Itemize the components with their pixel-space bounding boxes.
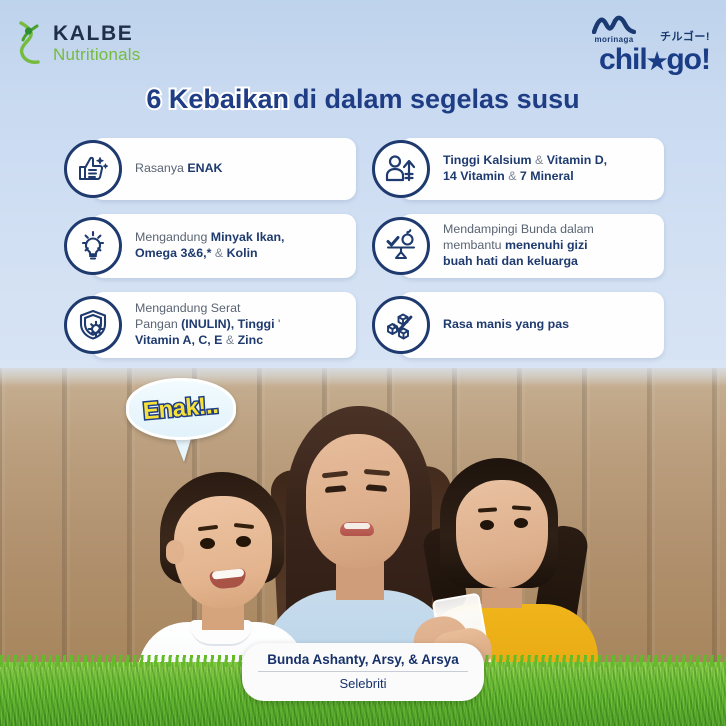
background-fade [0,360,726,386]
benefit-text-2: Tinggi Kalsium & Vitamin D,14 Vitamin & … [443,153,617,185]
speech-bubble-text: Enak!.. [142,392,219,426]
boy-eye-right [236,536,251,547]
chilgo-wordmark: chil★go! [592,45,710,75]
morinaga-logo: morinaga [592,14,636,44]
benefit-card-4[interactable]: Mendampingi Bunda dalammembantu menenuhi… [372,214,664,278]
mother-face [306,434,410,568]
benefit-text-1: Rasanya ENAK [135,161,232,177]
boy-eye-left [200,538,215,549]
morinaga-m-mountain-icon [592,14,636,34]
benefits-grid: Rasanya ENAK Tinggi Kalsium & Vitamin D,… [64,138,664,358]
girl-face [456,480,548,588]
caption-role: Selebriti [258,676,468,691]
thumbs-up-sparkle-icon [64,140,122,198]
page-title: 6 Kebaikandi dalam segelas susu [0,84,726,115]
benefit-card-3[interactable]: Mengandung Minyak Ikan,Omega 3&6,* & Kol… [64,214,356,278]
shield-germ-protection-icon [64,296,122,354]
person-growth-arrow-icon [372,140,430,198]
benefit-card-6[interactable]: Rasa manis yang pas [372,292,664,358]
girl-eye-right [514,518,528,528]
benefit-text-5: Mengandung SeratPangan (INULIN), Tinggi … [135,301,290,349]
kalbe-logo: KALBE Nutritionals [14,20,140,66]
chilgo-word-chil: chil [599,43,647,76]
benefit-card-2[interactable]: Tinggi Kalsium & Vitamin D,14 Vitamin & … [372,138,664,200]
benefit-text-4: Mendampingi Bunda dalammembantu menenuhi… [443,222,604,270]
boy-face [174,496,272,608]
boy-ear [166,540,184,564]
speech-bubble: Enak!.. [126,378,236,440]
benefit-card-5[interactable]: Mengandung SeratPangan (INULIN), Tinggi … [64,292,356,358]
chilgo-logo: morinaga チルゴー! chil★go! [592,14,710,75]
headline-emphasis: 6 Kebaikan [146,84,289,114]
benefit-text-3: Mengandung Minyak Ikan,Omega 3&6,* & Kol… [135,230,294,262]
chilgo-katakana: チルゴー! [660,28,710,44]
mother-teeth [344,523,370,529]
kalbe-wordmark: KALBE [53,23,140,44]
benefit-text-6: Rasa manis yang pas [443,317,579,333]
poster-canvas: KALBE Nutritionals morinaga チルゴー! chil★g… [0,0,726,726]
sugar-cubes-check-icon [372,296,430,354]
kalbe-helix-figure-icon [14,20,44,66]
balance-scale-apple-check-icon [372,217,430,275]
benefit-card-1[interactable]: Rasanya ENAK [64,138,356,200]
lightbulb-idea-icon [64,217,122,275]
headline-rest: di dalam segelas susu [293,84,580,114]
chilgo-word-go: go! [666,43,710,76]
girl-eye-left [480,520,494,530]
chilgo-star-icon: ★ [647,48,667,74]
caption-name: Bunda Ashanty, Arsy, & Arsya [258,652,468,672]
kalbe-tagline: Nutritionals [53,46,140,63]
testimonial-caption: Bunda Ashanty, Arsy, & Arsya Selebriti [242,643,484,701]
